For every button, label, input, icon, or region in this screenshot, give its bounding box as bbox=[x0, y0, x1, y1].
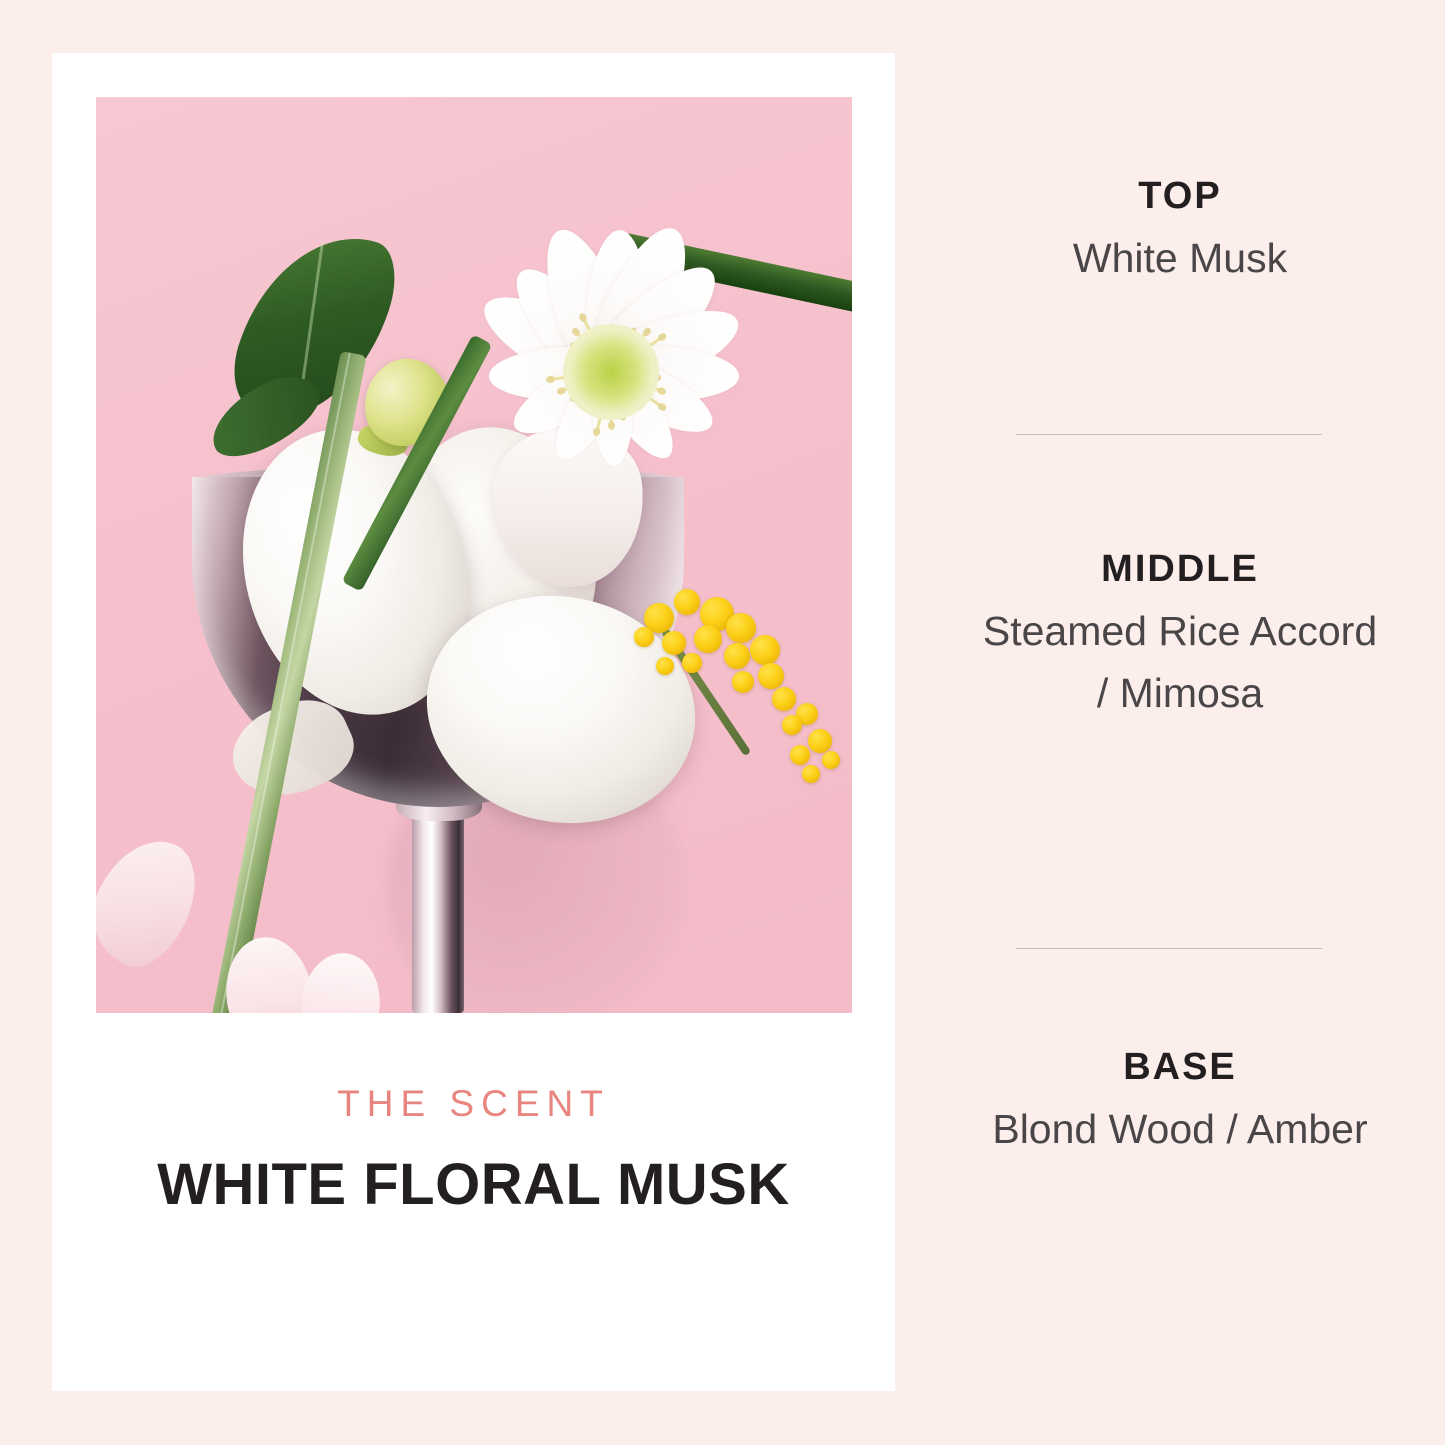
mimosa-pom bbox=[808, 729, 832, 753]
note-label-base: BASE bbox=[940, 1046, 1420, 1089]
note-value-middle: Steamed Rice Accord / Mimosa bbox=[940, 601, 1420, 724]
notes-divider bbox=[1016, 948, 1322, 949]
caption-eyebrow: THE SCENT bbox=[52, 1083, 895, 1125]
note-label-top: TOP bbox=[940, 175, 1420, 218]
product-card: THE SCENT WHITE FLORAL MUSK bbox=[52, 53, 895, 1391]
mimosa-pom bbox=[694, 625, 722, 653]
mimosa-pom bbox=[682, 653, 702, 673]
mimosa-pom bbox=[662, 631, 686, 655]
mimosa-pom bbox=[656, 657, 674, 675]
note-block-middle: MIDDLE Steamed Rice Accord / Mimosa bbox=[940, 548, 1420, 724]
note-block-top: TOP White Musk bbox=[940, 175, 1420, 290]
mimosa-pom bbox=[772, 687, 796, 711]
product-photo bbox=[96, 97, 852, 1013]
page-canvas: THE SCENT WHITE FLORAL MUSK TOP White Mu… bbox=[0, 0, 1445, 1445]
mimosa-pom bbox=[822, 751, 840, 769]
mimosa-pom bbox=[674, 589, 700, 615]
product-caption: THE SCENT WHITE FLORAL MUSK bbox=[52, 1083, 895, 1218]
mimosa-pom bbox=[634, 627, 654, 647]
mimosa-pom bbox=[726, 613, 756, 643]
note-block-base: BASE Blond Wood / Amber bbox=[940, 1046, 1420, 1161]
notes-divider bbox=[1016, 434, 1322, 435]
mimosa-pom bbox=[732, 671, 754, 693]
white-flower-icon bbox=[446, 207, 776, 537]
fragrance-notes-column: TOP White Musk MIDDLE Steamed Rice Accor… bbox=[940, 0, 1420, 1445]
flower-center bbox=[563, 324, 659, 420]
note-label-middle: MIDDLE bbox=[940, 548, 1420, 591]
mimosa-pom bbox=[802, 765, 820, 783]
mimosa-pom bbox=[724, 643, 750, 669]
mimosa-pom bbox=[758, 663, 784, 689]
glass-stem bbox=[412, 797, 464, 1013]
mimosa-pom bbox=[782, 715, 802, 735]
mimosa-pom bbox=[750, 635, 780, 665]
page-title: WHITE FLORAL MUSK bbox=[52, 1151, 895, 1218]
mimosa-pom bbox=[790, 745, 810, 765]
note-value-top: White Musk bbox=[940, 228, 1420, 290]
note-value-base: Blond Wood / Amber bbox=[940, 1099, 1420, 1161]
